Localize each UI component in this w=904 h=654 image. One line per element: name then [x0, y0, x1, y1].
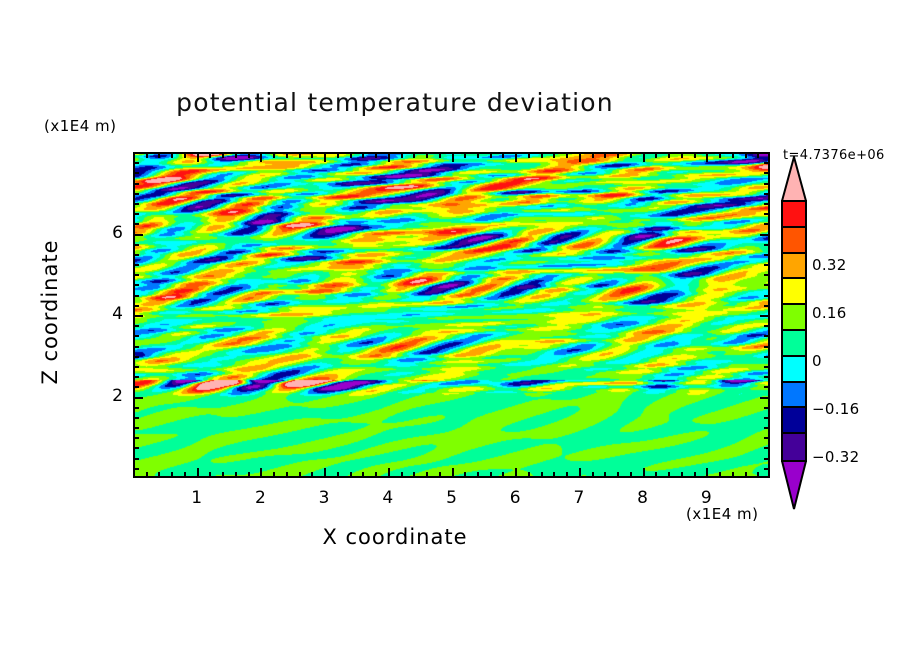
y-tick-left: [133, 162, 139, 164]
x-tick-label: 7: [564, 488, 594, 508]
x-tick-minor: [464, 472, 466, 478]
x-tick-minor: [158, 472, 160, 478]
x-axis-title: X coordinate: [0, 525, 790, 549]
y-tick-right: [764, 223, 770, 225]
y-tick-left: [133, 254, 139, 256]
colorbar-tick-label: −0.32: [812, 448, 859, 466]
x-tick-minor: [222, 472, 224, 478]
x-tick-minor: [579, 468, 581, 478]
x-tick-minor: [668, 472, 670, 478]
colorbar-band: [783, 331, 805, 357]
x-tick-top: [528, 152, 530, 158]
x-tick-minor: [311, 472, 313, 478]
y-tick-left: [133, 325, 139, 327]
x-tick-top: [604, 152, 606, 158]
x-tick-top: [388, 152, 390, 162]
y-tick-right: [764, 213, 770, 215]
y-tick-right: [764, 254, 770, 256]
x-tick-label: 3: [309, 488, 339, 508]
x-tick-minor: [553, 472, 555, 478]
y-tick-right: [764, 447, 770, 449]
y-tick-right: [764, 325, 770, 327]
x-tick-top: [235, 152, 237, 158]
y-tick-left: [133, 315, 143, 317]
x-tick-minor: [502, 472, 504, 478]
x-tick-top: [311, 152, 313, 158]
y-tick-right: [764, 305, 770, 307]
colorbar-under-arrow: [781, 460, 807, 510]
x-tick-minor: [745, 472, 747, 478]
y-tick-right: [764, 335, 770, 337]
x-tick-minor: [362, 472, 364, 478]
x-tick-top: [158, 152, 160, 158]
x-tick-label: 9: [691, 488, 721, 508]
x-tick-top: [464, 152, 466, 158]
y-tick-left: [133, 213, 139, 215]
y-tick-right: [764, 407, 770, 409]
x-tick-minor: [630, 472, 632, 478]
colorbar-over-arrow: [781, 156, 807, 202]
x-tick-top: [719, 152, 721, 158]
y-tick-left: [133, 407, 139, 409]
x-tick-minor: [209, 472, 211, 478]
x-tick-minor: [248, 472, 250, 478]
y-tick-right: [764, 203, 770, 205]
colorbar-over-arrow-shape: [781, 156, 807, 202]
x-tick-minor: [643, 468, 645, 478]
y-tick-left: [133, 386, 139, 388]
x-tick-label: 6: [500, 488, 530, 508]
y-tick-right: [764, 417, 770, 419]
x-tick-minor: [706, 468, 708, 478]
y-tick-right: [760, 234, 770, 236]
y-tick-right: [764, 356, 770, 358]
x-tick-top: [490, 152, 492, 158]
x-tick-top: [184, 152, 186, 158]
y-tick-left: [133, 366, 139, 368]
y-tick-right: [764, 183, 770, 185]
y-tick-left: [133, 468, 139, 470]
x-tick-top: [502, 152, 504, 158]
colorbar-under-arrow-shape: [781, 460, 807, 510]
x-tick-top: [439, 152, 441, 158]
y-tick-left: [133, 417, 139, 419]
y-tick-right: [764, 284, 770, 286]
x-tick-minor: [541, 472, 543, 478]
x-tick-minor: [401, 472, 403, 478]
x-tick-minor: [197, 468, 199, 478]
y-tick-left: [133, 447, 139, 449]
y-tick-right: [764, 376, 770, 378]
colorbar-tick-label: 0.32: [812, 256, 847, 274]
y-tick-left: [133, 305, 139, 307]
figure-canvas: potential temperature deviation (x1E4 m)…: [0, 0, 904, 654]
colorbar-band: [783, 434, 805, 460]
y-tick-left: [133, 203, 139, 205]
x-tick-top: [643, 152, 645, 162]
colorbar-tick-label: −0.16: [812, 400, 859, 418]
x-tick-top: [757, 152, 759, 158]
x-tick-minor: [375, 472, 377, 478]
x-tick-label: 1: [182, 488, 212, 508]
x-tick-minor: [452, 468, 454, 478]
x-tick-top: [324, 152, 326, 162]
x-tick-minor: [617, 472, 619, 478]
y-axis-title: Z coordinate: [38, 222, 62, 402]
colorbar-band: [783, 357, 805, 383]
y-tick-right: [760, 315, 770, 317]
x-tick-minor: [324, 468, 326, 478]
x-tick-top: [592, 152, 594, 158]
x-tick-top: [209, 152, 211, 158]
x-tick-top: [681, 152, 683, 158]
y-tick-right: [764, 437, 770, 439]
x-tick-top: [732, 152, 734, 158]
y-tick-left: [133, 397, 143, 399]
x-tick-minor: [171, 472, 173, 478]
x-tick-minor: [655, 472, 657, 478]
x-tick-top: [426, 152, 428, 158]
x-tick-top: [668, 152, 670, 158]
y-tick-right: [764, 274, 770, 276]
x-tick-top: [146, 152, 148, 158]
y-tick-left: [133, 295, 139, 297]
y-tick-left: [133, 427, 139, 429]
y-tick-left: [133, 274, 139, 276]
colorbar-band: [783, 254, 805, 280]
x-tick-minor: [426, 472, 428, 478]
y-tick-left: [133, 376, 139, 378]
x-tick-top: [362, 152, 364, 158]
y-tick-left: [133, 356, 139, 358]
x-tick-top: [350, 152, 352, 158]
x-tick-minor: [566, 472, 568, 478]
colorbar-band: [783, 228, 805, 254]
y-tick-left: [133, 346, 139, 348]
z-axis-unit-label: (x1E4 m): [44, 117, 117, 135]
x-tick-top: [337, 152, 339, 158]
x-tick-top: [413, 152, 415, 158]
y-tick-right: [764, 427, 770, 429]
x-tick-label: 5: [437, 488, 467, 508]
colorbar-tick-label: 0.16: [812, 304, 847, 322]
y-tick-left: [133, 183, 139, 185]
y-tick-label: 6: [93, 223, 123, 243]
y-tick-left: [133, 244, 139, 246]
x-tick-minor: [337, 472, 339, 478]
x-tick-top: [566, 152, 568, 158]
x-tick-minor: [286, 472, 288, 478]
x-tick-top: [286, 152, 288, 158]
colorbar-band: [783, 305, 805, 331]
x-tick-top: [745, 152, 747, 158]
x-tick-minor: [757, 472, 759, 478]
x-tick-label: 4: [373, 488, 403, 508]
x-tick-top: [197, 152, 199, 162]
x-tick-top: [630, 152, 632, 158]
x-tick-minor: [146, 472, 148, 478]
x-tick-minor: [260, 468, 262, 478]
y-tick-right: [764, 386, 770, 388]
x-tick-top: [694, 152, 696, 158]
y-tick-left: [133, 458, 139, 460]
x-tick-minor: [350, 472, 352, 478]
x-tick-minor: [299, 472, 301, 478]
y-tick-label: 4: [93, 304, 123, 324]
y-tick-left: [133, 172, 139, 174]
x-tick-top: [617, 152, 619, 158]
y-tick-label: 2: [93, 386, 123, 406]
x-tick-top: [579, 152, 581, 162]
y-tick-right: [764, 346, 770, 348]
colorbar: [781, 200, 807, 462]
page-title: potential temperature deviation: [0, 88, 790, 117]
x-tick-top: [553, 152, 555, 158]
colorbar-band: [783, 408, 805, 434]
x-tick-label: 8: [628, 488, 658, 508]
x-tick-minor: [592, 472, 594, 478]
y-tick-left: [133, 234, 143, 236]
x-tick-minor: [732, 472, 734, 478]
x-tick-top: [171, 152, 173, 158]
x-tick-top: [706, 152, 708, 162]
y-tick-right: [764, 458, 770, 460]
colorbar-band: [783, 202, 805, 228]
x-tick-minor: [477, 472, 479, 478]
x-tick-label: 2: [245, 488, 275, 508]
x-tick-minor: [235, 472, 237, 478]
y-tick-right: [764, 193, 770, 195]
x-tick-top: [222, 152, 224, 158]
y-tick-right: [760, 397, 770, 399]
x-tick-top: [541, 152, 543, 158]
y-tick-right: [764, 295, 770, 297]
y-tick-left: [133, 335, 139, 337]
y-tick-left: [133, 284, 139, 286]
y-tick-right: [764, 162, 770, 164]
x-tick-top: [375, 152, 377, 158]
x-tick-top: [299, 152, 301, 158]
x-tick-minor: [694, 472, 696, 478]
x-tick-top: [273, 152, 275, 158]
y-tick-right: [764, 264, 770, 266]
x-tick-minor: [439, 472, 441, 478]
contour-field-canvas: [135, 154, 768, 476]
x-tick-top: [401, 152, 403, 158]
y-tick-left: [133, 193, 139, 195]
x-tick-minor: [528, 472, 530, 478]
y-tick-left: [133, 437, 139, 439]
y-tick-right: [764, 468, 770, 470]
x-tick-top: [248, 152, 250, 158]
x-tick-top: [515, 152, 517, 162]
x-tick-minor: [681, 472, 683, 478]
y-tick-right: [764, 244, 770, 246]
y-tick-right: [764, 172, 770, 174]
x-tick-minor: [490, 472, 492, 478]
colorbar-band: [783, 383, 805, 409]
x-tick-minor: [184, 472, 186, 478]
colorbar-tick-label: 0: [812, 352, 822, 370]
colorbar-band: [783, 279, 805, 305]
contour-plot-area: [133, 152, 770, 478]
x-tick-minor: [604, 472, 606, 478]
x-tick-minor: [719, 472, 721, 478]
y-tick-right: [764, 366, 770, 368]
x-tick-minor: [413, 472, 415, 478]
x-tick-minor: [273, 472, 275, 478]
x-tick-minor: [515, 468, 517, 478]
x-tick-minor: [388, 468, 390, 478]
x-tick-top: [655, 152, 657, 158]
x-tick-top: [477, 152, 479, 158]
x-tick-top: [452, 152, 454, 162]
y-tick-left: [133, 223, 139, 225]
x-tick-top: [260, 152, 262, 162]
y-tick-left: [133, 264, 139, 266]
